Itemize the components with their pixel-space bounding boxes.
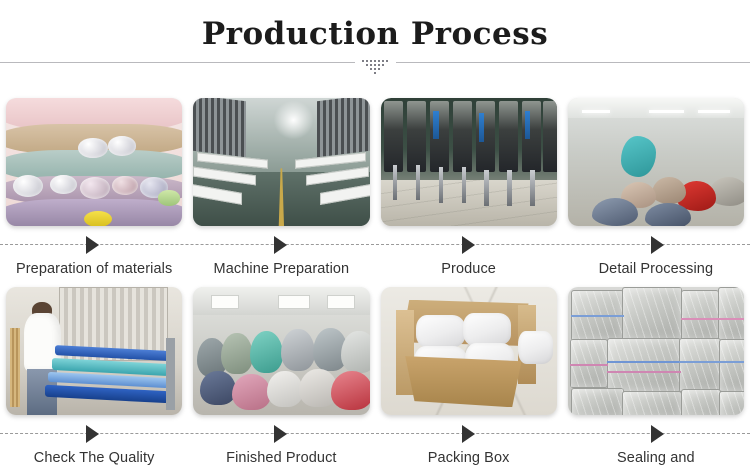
ornament-row <box>357 68 393 70</box>
process-connector-row-1 <box>0 236 750 254</box>
arrow-right-icon <box>462 425 475 443</box>
process-captions-row-2: Check The Quality Finished Product Packi… <box>0 449 750 468</box>
process-step-card-8[interactable] <box>568 287 744 415</box>
fabric-inspection-machine-photo <box>6 287 182 415</box>
process-step-label-7: Packing Box <box>381 449 557 468</box>
process-cards-row-1 <box>0 90 750 226</box>
process-step-label-8: Sealing and Sticking Marks <box>568 449 744 468</box>
embroidery-machine-hall-photo <box>193 98 369 226</box>
dot-triangle-icon <box>357 60 393 82</box>
page-header: Production Process <box>0 0 750 90</box>
arrow-right-icon <box>274 425 287 443</box>
process-row-2: Check The Quality Finished Product Packi… <box>0 279 750 468</box>
process-step-label-1: Preparation of materials <box>6 260 182 279</box>
stacked-fabric-rolls-photo <box>6 98 182 226</box>
process-step-card-3[interactable] <box>381 98 557 226</box>
process-step-label-4: Detail Processing <box>568 260 744 279</box>
header-divider <box>0 62 750 63</box>
production-process-grid: Preparation of materials Machine Prepara… <box>0 90 750 468</box>
process-step-label-8-line1: Sealing and <box>617 450 695 466</box>
process-captions-row-1: Preparation of materials Machine Prepara… <box>0 260 750 279</box>
workshop-fabric-bundles-photo <box>568 98 744 226</box>
sewing-machine-heads-photo <box>381 98 557 226</box>
arrow-right-icon <box>86 236 99 254</box>
arrow-right-icon <box>462 236 475 254</box>
arrow-right-icon <box>651 425 664 443</box>
warehouse-fabric-bales-photo <box>193 287 369 415</box>
process-step-label-6: Finished Product <box>193 449 369 468</box>
arrow-right-icon <box>274 236 287 254</box>
process-connector-row-2 <box>0 425 750 443</box>
process-cards-row-2 <box>0 279 750 415</box>
ornament-row <box>357 72 393 74</box>
process-step-label-5: Check The Quality <box>6 449 182 468</box>
arrow-right-icon <box>651 236 664 254</box>
process-step-label-2: Machine Preparation <box>193 260 369 279</box>
process-step-label-3: Produce <box>381 260 557 279</box>
process-step-card-2[interactable] <box>193 98 369 226</box>
process-step-card-4[interactable] <box>568 98 744 226</box>
ornament-row <box>357 64 393 66</box>
divider-line-left <box>0 62 355 63</box>
ornament-row <box>357 60 393 62</box>
process-step-card-1[interactable] <box>6 98 182 226</box>
shrink-wrapped-bales-photo <box>568 287 744 415</box>
arrow-right-icon <box>86 425 99 443</box>
process-step-card-7[interactable] <box>381 287 557 415</box>
dashed-connector-line <box>0 433 750 434</box>
process-step-card-6[interactable] <box>193 287 369 415</box>
process-row-1: Preparation of materials Machine Prepara… <box>0 90 750 279</box>
page-title: Production Process <box>0 14 750 54</box>
divider-line-right <box>396 62 750 63</box>
dashed-connector-line <box>0 244 750 245</box>
carton-with-packed-bags-photo <box>381 287 557 415</box>
process-step-card-5[interactable] <box>6 287 182 415</box>
